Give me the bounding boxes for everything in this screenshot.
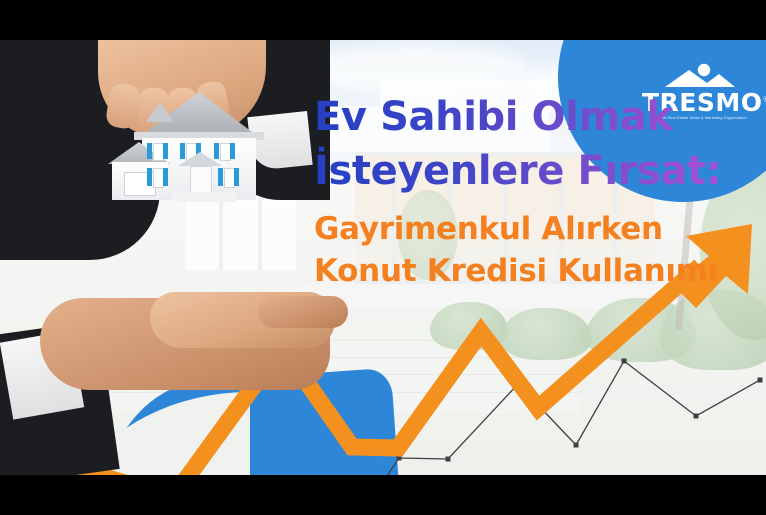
window-shutter <box>180 143 185 159</box>
window-shutter <box>218 168 223 186</box>
hands-holding-house-photo <box>0 40 340 475</box>
headline: Ev Sahibi Olmak İsteyenlere Fırsat: <box>314 90 754 198</box>
window-shutter <box>163 143 168 159</box>
headline-line-1: Ev Sahibi Olmak <box>314 90 754 144</box>
subtitle-line-2: Konut Kredisi Kullanımı <box>314 250 754 292</box>
window-shutter <box>163 168 168 186</box>
letterbox-top <box>0 0 766 40</box>
window-shutter <box>147 168 152 186</box>
house-roof-sun-icon <box>663 62 737 88</box>
window-shutter <box>234 168 239 186</box>
letterbox-bottom <box>0 475 766 515</box>
window-shutter <box>214 143 219 159</box>
window-shutter <box>147 143 152 159</box>
subtitle: Gayrimenkul Alırken Konut Kredisi Kullan… <box>314 208 754 292</box>
registered-mark: ® <box>763 96 766 104</box>
window-shutter <box>230 143 235 159</box>
porch-step <box>172 192 236 202</box>
banner-image: TRESMO® Turkish Real Estate Sales & Mark… <box>0 0 766 515</box>
fingertips <box>258 296 348 328</box>
banner-content-stage: TRESMO® Turkish Real Estate Sales & Mark… <box>0 40 766 475</box>
subtitle-line-1: Gayrimenkul Alırken <box>314 208 754 250</box>
headline-line-2: İsteyenlere Fırsat: <box>314 144 754 198</box>
